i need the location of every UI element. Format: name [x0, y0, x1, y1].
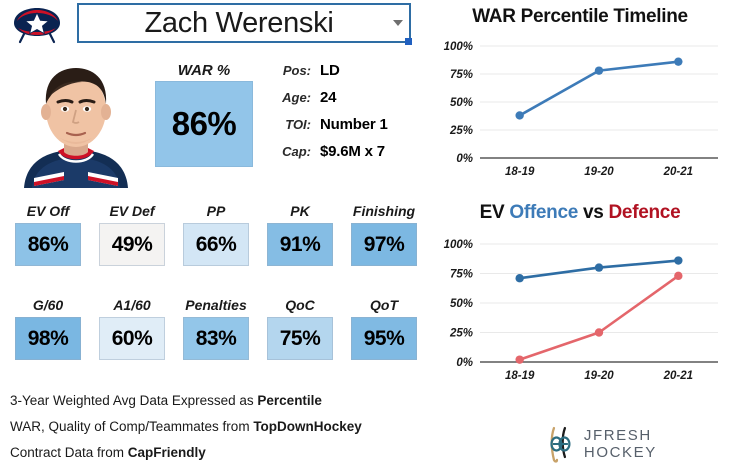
ev-title-part: EV	[480, 202, 510, 223]
footnote-bold: Percentile	[257, 393, 322, 408]
y-tick-label: 0%	[456, 357, 473, 369]
data-point	[674, 256, 682, 264]
y-tick-label: 50%	[450, 97, 473, 109]
stat-row-secondary: G/6098%A1/6060%Penalties83%QoC75%QoT95%	[6, 294, 426, 360]
info-key-cap: Cap:	[276, 144, 320, 159]
jfresh-hockey-logo: JFRESH HOCKEY	[545, 424, 730, 464]
player-info-list: Pos: LD Age: 24 TOI: Number 1 Cap: $9.6M…	[276, 62, 426, 170]
stat-cell-qoc: QoC75%	[258, 294, 342, 360]
player-name-dropdown[interactable]: Zach Werenski	[77, 3, 411, 43]
y-tick-label: 0%	[456, 153, 473, 165]
footnote-plain: Contract Data from	[10, 445, 128, 460]
stat-label: Finishing	[353, 200, 415, 223]
stat-label: EV Off	[27, 200, 70, 223]
series-line-defence	[520, 276, 679, 360]
data-point	[595, 263, 603, 271]
war-timeline-chart: WAR Percentile Timeline 0%25%50%75%100%1…	[434, 2, 726, 197]
footnotes: 3-Year Weighted Avg Data Expressed as Pe…	[10, 388, 430, 466]
y-tick-label: 75%	[450, 69, 473, 81]
stat-value: 83%	[196, 327, 237, 351]
stat-label: G/60	[33, 294, 63, 317]
data-point	[595, 66, 603, 74]
stat-cell-a1-60: A1/6060%	[90, 294, 174, 360]
x-tick-label: 18-19	[505, 370, 535, 382]
footnote-line: WAR, Quality of Comp/Teammates from TopD…	[10, 414, 430, 440]
war-timeline-plot: 0%25%50%75%100%18-1919-2020-21	[434, 32, 726, 194]
x-tick-label: 18-19	[505, 166, 535, 178]
stat-cell-penalties: Penalties83%	[174, 294, 258, 360]
stat-value: 86%	[28, 233, 69, 257]
ev-offence-defence-chart: EV Offence vs Defence 0%25%50%75%100%18-…	[434, 198, 726, 406]
info-row-pos: Pos: LD	[276, 62, 426, 89]
footnote-plain: 3-Year Weighted Avg Data Expressed as	[10, 393, 257, 408]
stat-box: 66%	[183, 223, 249, 266]
ev-chart-title: EV Offence vs Defence	[434, 198, 726, 228]
footnote-bold: TopDownHockey	[253, 419, 362, 434]
stat-cell-pp: PP66%	[174, 200, 258, 266]
stat-box: 83%	[183, 317, 249, 360]
y-tick-label: 75%	[450, 269, 473, 281]
y-tick-label: 25%	[449, 125, 473, 137]
stat-row-primary: EV Off86%EV Def49%PP66%PK91%Finishing97%	[6, 200, 426, 266]
data-point	[515, 111, 523, 119]
footnote-plain: WAR, Quality of Comp/Teammates from	[10, 419, 253, 434]
info-key-pos: Pos:	[276, 63, 320, 78]
war-value: 86%	[172, 105, 237, 143]
y-tick-label: 100%	[444, 41, 473, 53]
player-headshot	[12, 54, 140, 188]
ev-title-part: vs	[583, 202, 609, 223]
stat-cell-finishing: Finishing97%	[342, 200, 426, 266]
stat-value: 97%	[364, 233, 405, 257]
stat-value: 66%	[196, 233, 237, 257]
stat-box: 98%	[15, 317, 81, 360]
stat-box: 75%	[267, 317, 333, 360]
jfresh-hockey-label: JFRESH HOCKEY	[584, 427, 730, 461]
info-row-age: Age: 24	[276, 89, 426, 116]
info-value-cap: $9.6M x 7	[320, 143, 385, 160]
jfresh-monogram-icon	[545, 424, 575, 464]
stat-box: 91%	[267, 223, 333, 266]
stat-value: 49%	[112, 233, 153, 257]
war-percentile-box: 86%	[155, 81, 253, 167]
resize-handle[interactable]	[405, 38, 412, 45]
stat-label: A1/60	[113, 294, 150, 317]
stat-value: 98%	[28, 327, 69, 351]
info-value-toi: Number 1	[320, 116, 388, 133]
info-value-age: 24	[320, 89, 336, 106]
stat-box: 49%	[99, 223, 165, 266]
footnote-bold: CapFriendly	[128, 445, 206, 460]
ev-title-part: Defence	[609, 202, 681, 223]
x-tick-label: 19-20	[584, 370, 614, 382]
stat-cell-g-60: G/6098%	[6, 294, 90, 360]
chevron-down-icon[interactable]	[387, 20, 409, 26]
stat-label: PK	[290, 200, 309, 223]
stat-value: 75%	[280, 327, 321, 351]
player-name-value: Zach Werenski	[79, 7, 387, 40]
y-tick-label: 100%	[444, 239, 473, 251]
stat-box: 86%	[15, 223, 81, 266]
columbus-blue-jackets-logo-icon	[8, 4, 66, 46]
ev-offence-defence-plot: 0%25%50%75%100%18-1919-2020-21	[434, 228, 726, 400]
stat-value: 95%	[364, 327, 405, 351]
stat-cell-qot: QoT95%	[342, 294, 426, 360]
stat-cell-ev-off: EV Off86%	[6, 200, 90, 266]
data-point	[674, 272, 682, 280]
data-point	[515, 355, 523, 363]
stat-label: Penalties	[185, 294, 246, 317]
footnote-line: 3-Year Weighted Avg Data Expressed as Pe…	[10, 388, 430, 414]
war-timeline-chart-title: WAR Percentile Timeline	[434, 2, 726, 32]
x-tick-label: 19-20	[584, 166, 614, 178]
stat-label: EV Def	[109, 200, 154, 223]
footnote-line: Contract Data from CapFriendly	[10, 440, 430, 466]
stat-box: 97%	[351, 223, 417, 266]
stat-label: QoC	[285, 294, 315, 317]
data-point	[515, 274, 523, 282]
x-tick-label: 20-21	[663, 370, 693, 382]
player-card: Zach Werenski	[0, 0, 730, 474]
x-tick-label: 20-21	[663, 166, 693, 178]
stat-value: 60%	[112, 327, 153, 351]
stat-cell-pk: PK91%	[258, 200, 342, 266]
info-row-cap: Cap: $9.6M x 7	[276, 143, 426, 170]
stat-label: QoT	[370, 294, 398, 317]
y-tick-label: 25%	[449, 328, 473, 340]
info-key-age: Age:	[276, 90, 320, 105]
stat-label: PP	[207, 200, 226, 223]
info-key-toi: TOI:	[276, 117, 320, 132]
info-row-toi: TOI: Number 1	[276, 116, 426, 143]
data-point	[595, 328, 603, 336]
info-value-pos: LD	[320, 62, 340, 79]
data-point	[674, 57, 682, 65]
stat-box: 60%	[99, 317, 165, 360]
stat-box: 95%	[351, 317, 417, 360]
stat-cell-ev-def: EV Def49%	[90, 200, 174, 266]
war-label: WAR %	[155, 62, 253, 79]
ev-title-part: Offence	[509, 202, 583, 223]
stat-value: 91%	[280, 233, 321, 257]
y-tick-label: 50%	[450, 298, 473, 310]
